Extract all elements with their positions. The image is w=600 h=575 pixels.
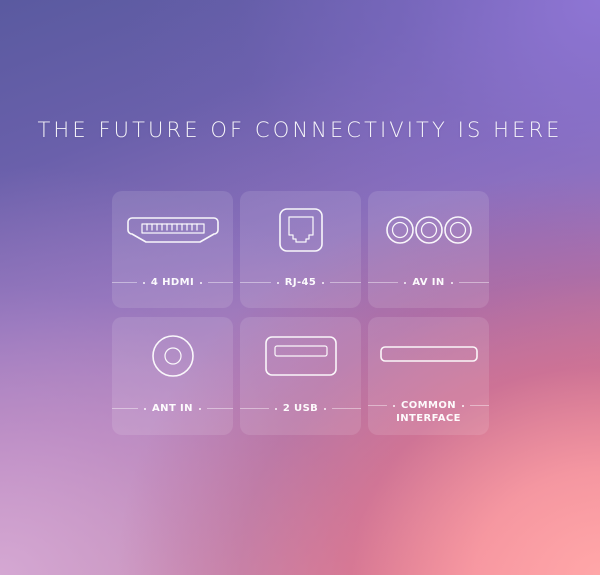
bullet-dot-left: [404, 282, 406, 284]
ci-card-slot-icon: [368, 317, 489, 391]
bullet-dot-right: [199, 408, 201, 410]
bullet-dot-left: [144, 408, 146, 410]
label-rule-left: [368, 405, 387, 406]
port-card-av-in[interactable]: AV IN: [368, 191, 489, 308]
bullet-dot-left: [143, 282, 145, 284]
port-label-hdmi: 4 HDMI: [151, 277, 194, 288]
bullet-dot-right: [200, 282, 202, 284]
label-rule-right: [332, 408, 361, 409]
bullet-dot-right: [324, 408, 326, 410]
bullet-dot-left: [275, 408, 277, 410]
label-rule-right: [330, 282, 361, 283]
label-rule-left: [112, 282, 137, 283]
port-label-av-in: AV IN: [412, 277, 444, 288]
label-rule-right: [208, 282, 233, 283]
usb-label-row: 2 USB: [240, 403, 361, 414]
bullet-dot-right: [322, 282, 324, 284]
label-rule-left: [112, 408, 138, 409]
ant-in-label-row: ANT IN: [112, 403, 233, 414]
rj45-ethernet-port-icon: [240, 191, 361, 269]
usb-port-icon: [240, 317, 361, 395]
port-label-common-interface-line2: INTERFACE: [368, 413, 489, 424]
page-title: THE FUTURE OF CONNECTIVITY IS HERE: [0, 118, 600, 142]
coaxial-antenna-port-icon: [112, 317, 233, 395]
av-in-label-row: AV IN: [368, 277, 489, 288]
port-card-rj45[interactable]: RJ-45: [240, 191, 361, 308]
label-rule-left: [368, 282, 398, 283]
rj45-label-row: RJ-45: [240, 277, 361, 288]
port-card-common-interface[interactable]: COMMON INTERFACE: [368, 317, 489, 435]
bullet-dot-right: [462, 405, 464, 407]
label-rule-right: [470, 405, 489, 406]
poster-canvas: THE FUTURE OF CONNECTIVITY IS HERE 4 HDM…: [0, 0, 600, 575]
rca-av-jacks-icon: [368, 191, 489, 269]
port-card-hdmi[interactable]: 4 HDMI: [112, 191, 233, 308]
bullet-dot-right: [451, 282, 453, 284]
label-rule-left: [240, 408, 269, 409]
port-label-rj45: RJ-45: [285, 277, 317, 288]
hdmi-label-row: 4 HDMI: [112, 277, 233, 288]
label-rule-right: [207, 408, 233, 409]
port-label-usb: 2 USB: [283, 403, 318, 414]
port-card-ant-in[interactable]: ANT IN: [112, 317, 233, 435]
port-label-common-interface: COMMON: [401, 400, 456, 411]
label-rule-left: [240, 282, 271, 283]
bullet-dot-left: [393, 405, 395, 407]
port-card-usb[interactable]: 2 USB: [240, 317, 361, 435]
port-card-grid: 4 HDMI RJ-45: [112, 191, 489, 435]
port-label-ant-in: ANT IN: [152, 403, 193, 414]
common-interface-label-row: COMMON: [368, 400, 489, 411]
hdmi-port-icon: [112, 191, 233, 269]
bullet-dot-left: [277, 282, 279, 284]
label-rule-right: [459, 282, 489, 283]
